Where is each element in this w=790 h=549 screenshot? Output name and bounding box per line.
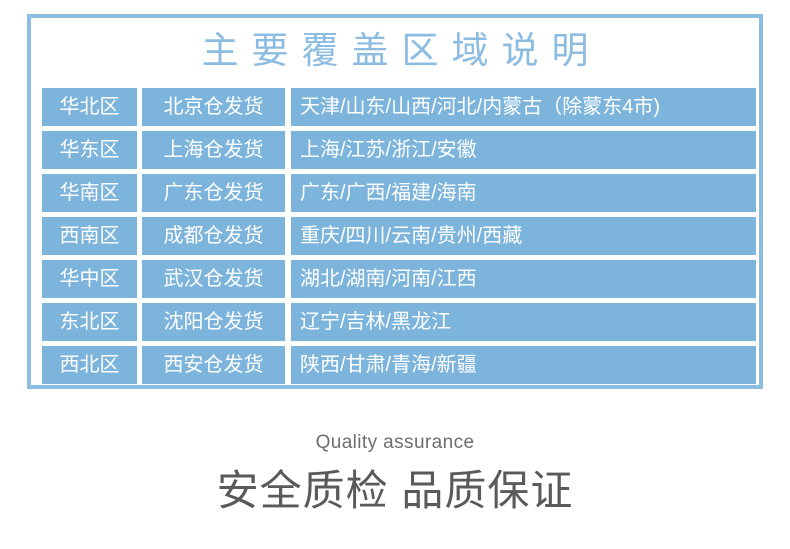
cell-warehouse: 广东仓发货 xyxy=(142,174,285,212)
cell-region: 东北区 xyxy=(42,303,137,341)
coverage-table: 华北区 北京仓发货 天津/山东/山西/河北/内蒙古（除蒙东4市) 华东区 上海仓… xyxy=(42,88,756,384)
table-row: 华北区 北京仓发货 天津/山东/山西/河北/内蒙古（除蒙东4市) xyxy=(42,88,756,126)
cell-region: 华中区 xyxy=(42,260,137,298)
cell-warehouse: 北京仓发货 xyxy=(142,88,285,126)
cell-provinces: 上海/江苏/浙江/安徽 xyxy=(291,131,756,169)
cell-provinces: 重庆/四川/云南/贵州/西藏 xyxy=(291,217,756,255)
footer-english-tagline: Quality assurance xyxy=(0,430,790,456)
cell-region: 华北区 xyxy=(42,88,137,126)
table-row: 华南区 广东仓发货 广东/广西/福建/海南 xyxy=(42,174,756,212)
cell-provinces: 陕西/甘肃/青海/新疆 xyxy=(291,346,756,384)
table-row: 华东区 上海仓发货 上海/江苏/浙江/安徽 xyxy=(42,131,756,169)
table-row: 华中区 武汉仓发货 湖北/湖南/河南/江西 xyxy=(42,260,756,298)
cell-region: 华南区 xyxy=(42,174,137,212)
cell-provinces: 天津/山东/山西/河北/内蒙古（除蒙东4市) xyxy=(291,88,756,126)
cell-warehouse: 上海仓发货 xyxy=(142,131,285,169)
cell-provinces: 广东/广西/福建/海南 xyxy=(291,174,756,212)
cell-region: 西南区 xyxy=(42,217,137,255)
cell-warehouse: 西安仓发货 xyxy=(142,346,285,384)
cell-warehouse: 武汉仓发货 xyxy=(142,260,285,298)
cell-provinces: 湖北/湖南/河南/江西 xyxy=(291,260,756,298)
cell-region: 华东区 xyxy=(42,131,137,169)
page-title: 主要覆盖区域说明 xyxy=(27,26,763,76)
cell-warehouse: 成都仓发货 xyxy=(142,217,285,255)
cell-provinces: 辽宁/吉林/黑龙江 xyxy=(291,303,756,341)
footer-block: Quality assurance 安全质检 品质保证 xyxy=(0,430,790,520)
cell-warehouse: 沈阳仓发货 xyxy=(142,303,285,341)
table-row: 西南区 成都仓发货 重庆/四川/云南/贵州/西藏 xyxy=(42,217,756,255)
footer-chinese-tagline: 安全质检 品质保证 xyxy=(0,462,790,520)
table-row: 东北区 沈阳仓发货 辽宁/吉林/黑龙江 xyxy=(42,303,756,341)
table-row: 西北区 西安仓发货 陕西/甘肃/青海/新疆 xyxy=(42,346,756,384)
cell-region: 西北区 xyxy=(42,346,137,384)
coverage-area-poster: 主要覆盖区域说明 华北区 北京仓发货 天津/山东/山西/河北/内蒙古（除蒙东4市… xyxy=(0,0,790,549)
